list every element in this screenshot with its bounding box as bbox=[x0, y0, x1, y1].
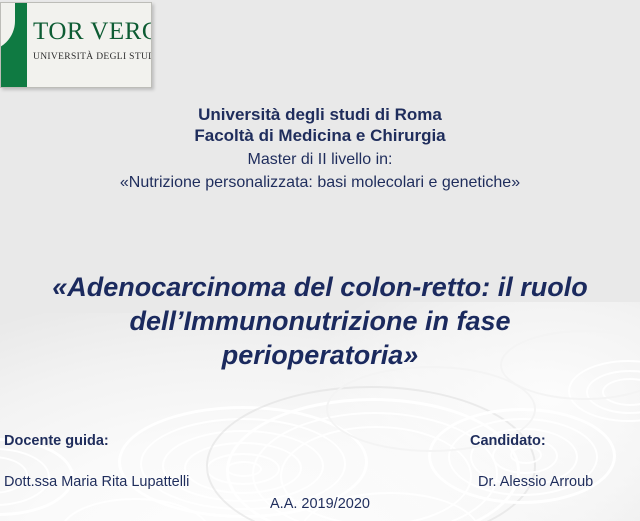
university-logo: TOR VERGATA UNIVERSITÀ DEGLI STUDI DI RO… bbox=[0, 2, 152, 88]
candidate-name: Dr. Alessio Arroub bbox=[478, 473, 593, 491]
title-line-3: perioperatoria» bbox=[30, 338, 610, 372]
header-master-name-line: «Nutrizione personalizzata: basi molecol… bbox=[0, 171, 640, 194]
title-line-1: «Adenocarcinoma del colon-retto: il ruol… bbox=[30, 270, 610, 304]
logo-green-bar-icon bbox=[1, 3, 27, 87]
presentation-slide: TOR VERGATA UNIVERSITÀ DEGLI STUDI DI RO… bbox=[0, 0, 640, 521]
advisor-column: Docente guida: Dott.ssa Maria Rita Lupat… bbox=[4, 432, 189, 491]
logo-name: TOR VERGATA bbox=[33, 19, 149, 44]
ripple-ring bbox=[602, 378, 640, 406]
ripple-ring bbox=[226, 461, 262, 477]
advisor-name: Dott.ssa Maria Rita Lupattelli bbox=[4, 473, 189, 491]
logo-subtitle: UNIVERSITÀ DEGLI STUDI DI ROMA bbox=[33, 52, 149, 62]
ripple-ring bbox=[184, 442, 302, 494]
header-master-line: Master di II livello in: bbox=[0, 148, 640, 171]
academic-year: A.A. 2019/2020 bbox=[0, 496, 640, 512]
header-block: Università degli studi di Roma Facoltà d… bbox=[0, 104, 640, 194]
header-faculty-line: Facoltà di Medicina e Chirurgia bbox=[0, 125, 640, 146]
candidate-column: Candidato: Dr. Alessio Arroub bbox=[470, 432, 593, 491]
advisor-role-label: Docente guida: bbox=[4, 432, 189, 450]
slide-title: «Adenocarcinoma del colon-retto: il ruol… bbox=[30, 270, 610, 372]
logo-text: TOR VERGATA UNIVERSITÀ DEGLI STUDI DI RO… bbox=[33, 19, 149, 62]
ripple-ring bbox=[206, 453, 280, 485]
header-university-line: Università degli studi di Roma bbox=[0, 104, 640, 125]
candidate-role-label: Candidato: bbox=[470, 432, 593, 450]
ripple-ring bbox=[586, 370, 640, 414]
title-line-2: dell’Immunonutrizione in fase bbox=[30, 304, 610, 338]
